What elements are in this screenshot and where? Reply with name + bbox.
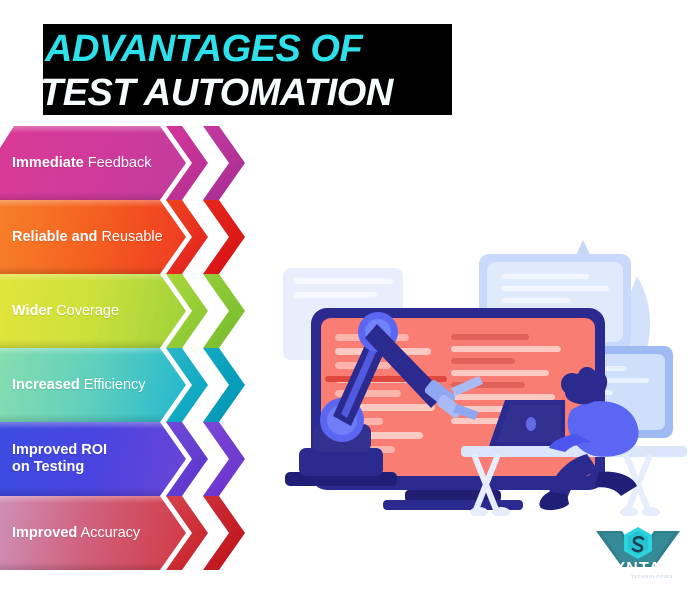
advantage-label-regular: Efficiency <box>84 377 146 393</box>
chevron-icon <box>203 274 245 348</box>
chevron-icon <box>203 496 245 570</box>
advantage-label: Improved Accuracy <box>12 496 140 570</box>
chevron-icon <box>203 422 245 496</box>
logo-tagline: TECHNOLOGIES <box>631 574 673 579</box>
advantages-list: Immediate Feedback Reliable and Reusable… <box>0 126 250 570</box>
advantage-label-bold: Reliable and <box>12 229 97 245</box>
advantage-label-bold: Wider <box>12 303 52 319</box>
advantage-label: Wider Coverage <box>12 274 119 348</box>
advantage-label: Increased Efficiency <box>12 348 146 422</box>
chevron-icon <box>203 200 245 274</box>
advantage-label-line2: on Testing <box>12 459 84 475</box>
advantage-label: Improved ROI on Testing <box>12 422 107 496</box>
advantage-label-bold: Improved ROI <box>12 442 107 458</box>
advantage-item-wider-coverage[interactable]: Wider Coverage <box>0 274 250 348</box>
title-line-advantages-of: ADVANTAGES OF <box>43 24 452 70</box>
advantage-label: Immediate Feedback <box>12 126 151 200</box>
robot-arm-test-automation-illustration <box>265 228 687 516</box>
advantage-label-regular: Feedback <box>88 155 152 171</box>
advantage-label-regular: Reusable <box>101 229 162 245</box>
chevron-icon <box>203 126 245 200</box>
advantage-label-bold: Increased <box>12 377 80 393</box>
advantage-label-bold: Immediate <box>12 155 84 171</box>
advantage-label-regular: Accuracy <box>81 525 141 541</box>
advantage-item-improved-accuracy[interactable]: Improved Accuracy <box>0 496 250 570</box>
advantage-label-regular: Coverage <box>56 303 119 319</box>
page-title: ADVANTAGES OF TEST AUTOMATION <box>43 24 452 115</box>
advantage-item-immediate-feedback[interactable]: Immediate Feedback <box>0 126 250 200</box>
advantage-label-bold: Improved <box>12 525 77 541</box>
chevron-icon <box>203 348 245 422</box>
title-line-test-automation: TEST AUTOMATION <box>43 70 452 115</box>
title-line-2-text: TEST AUTOMATION <box>40 72 393 114</box>
advantage-item-improved-roi-on-testing[interactable]: Improved ROI on Testing <box>0 422 250 496</box>
advantage-label: Reliable and Reusable <box>12 200 163 274</box>
advantage-item-reliable-and-reusable[interactable]: Reliable and Reusable <box>0 200 250 274</box>
advantage-item-increased-efficiency[interactable]: Increased Efficiency <box>0 348 250 422</box>
syntax-technologies-logo[interactable]: SYNTAX TECHNOLOGIES <box>592 521 684 579</box>
infographic-canvas: ADVANTAGES OF TEST AUTOMATION Immediate … <box>0 0 700 600</box>
